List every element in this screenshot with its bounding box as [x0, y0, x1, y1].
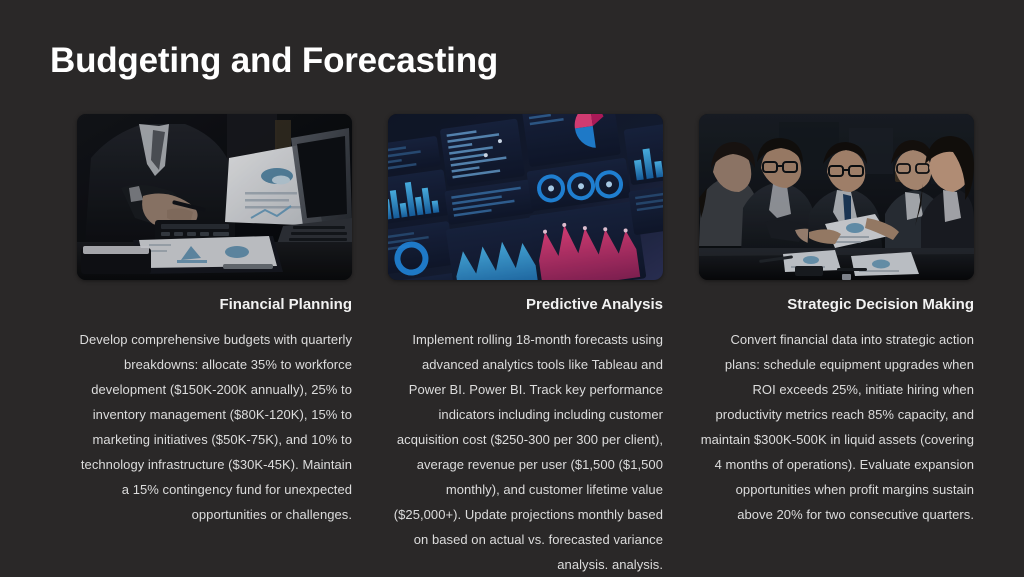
column-financial-planning: Financial Planning Develop comprehensive…: [77, 114, 352, 577]
strategic-decision-making-photo: [699, 114, 974, 280]
financial-planning-photo: [77, 114, 352, 280]
predictive-analysis-illustration: [388, 114, 663, 280]
column-strategic-decision-making: Strategic Decision Making Convert financ…: [699, 114, 974, 577]
financial-planning-illustration: [77, 114, 352, 280]
card-heading: Predictive Analysis: [388, 295, 663, 315]
page-title: Budgeting and Forecasting: [50, 40, 498, 82]
card-heading: Strategic Decision Making: [699, 295, 974, 315]
content-columns: Financial Planning Develop comprehensive…: [77, 114, 974, 577]
card-body-text: Implement rolling 18-month forecasts usi…: [388, 327, 663, 577]
strategic-decision-making-illustration: [699, 114, 974, 280]
card-heading: Financial Planning: [77, 295, 352, 315]
slide-root: Budgeting and Forecasting: [0, 0, 1024, 576]
card-body-text: Develop comprehensive budgets with quart…: [77, 327, 352, 527]
predictive-analysis-photo: [388, 114, 663, 280]
card-body-text: Convert financial data into strategic ac…: [699, 327, 974, 527]
column-predictive-analysis: Predictive Analysis Implement rolling 18…: [388, 114, 663, 577]
